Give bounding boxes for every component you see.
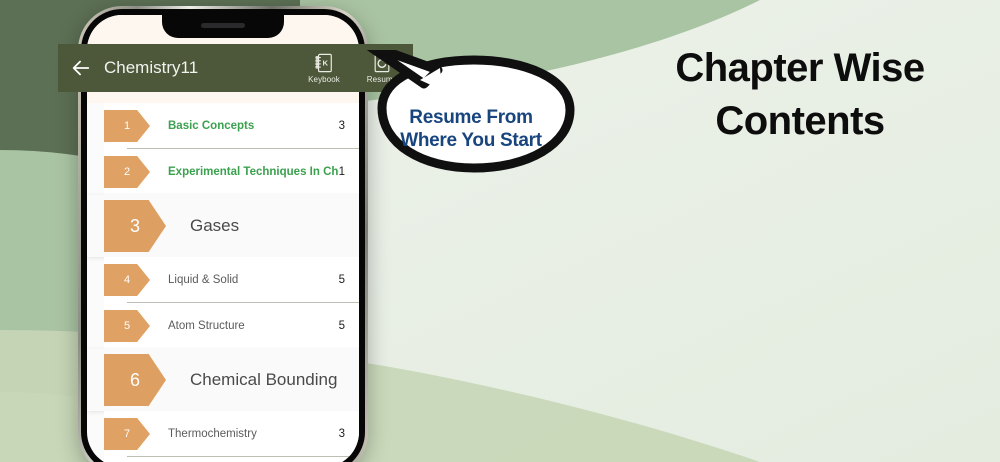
callout-line2: Where You Start bbox=[376, 129, 566, 152]
screenshot-canvas: Chapter Wise Contents 1Basic Concepts32E… bbox=[0, 0, 1000, 462]
chapter-number-badge: 3 bbox=[104, 200, 166, 252]
keybook-button[interactable]: K Keybook bbox=[303, 52, 345, 84]
chapter-row[interactable]: 5Atom Structure5 bbox=[87, 303, 359, 349]
chapter-number-badge: 4 bbox=[104, 264, 150, 296]
chapter-title: Experimental Techniques In Chemistry bbox=[150, 166, 339, 178]
chapter-row[interactable]: 4Liquid & Solid5 bbox=[87, 257, 359, 303]
chapter-row[interactable]: 8Chemical Equilibrium6 bbox=[87, 457, 359, 462]
callout-text: Resume From Where You Start bbox=[376, 106, 566, 152]
callout-line1: Resume From bbox=[409, 107, 532, 128]
chapter-row-inner: 7Thermochemistry3 bbox=[87, 411, 359, 457]
chapter-count: 5 bbox=[339, 274, 359, 286]
chapter-number-badge: 1 bbox=[104, 110, 150, 142]
page-title: Chapter Wise Contents bbox=[600, 42, 1000, 148]
chapter-row-inner: 1Basic Concepts3 bbox=[87, 103, 359, 149]
chapter-row-inner: 3Gases55 bbox=[87, 195, 359, 257]
chapter-title: Atom Structure bbox=[150, 320, 339, 332]
chapter-title: Thermochemistry bbox=[150, 428, 339, 440]
chapter-row[interactable]: 3Gases55 bbox=[87, 195, 359, 257]
chapter-number-badge: 5 bbox=[104, 310, 150, 342]
app-toolbar: Chemistry11 K Keybook bbox=[58, 44, 413, 92]
svg-text:K: K bbox=[322, 58, 328, 67]
chapter-row-inner: 6Chemical Bounding81 bbox=[87, 349, 359, 411]
chapter-list[interactable]: 1Basic Concepts32Experimental Techniques… bbox=[87, 103, 359, 462]
chapter-row-inner: 5Atom Structure5 bbox=[87, 303, 359, 349]
chapter-divider bbox=[127, 148, 359, 149]
page-title-line1: Chapter Wise bbox=[675, 46, 924, 90]
chapter-title: Gases bbox=[166, 216, 359, 236]
chapter-number-badge: 7 bbox=[104, 418, 150, 450]
resume-callout: Resume From Where You Start bbox=[362, 50, 594, 202]
chapter-row-inner: 2Experimental Techniques In Chemistry1 bbox=[87, 149, 359, 195]
chapter-title: Chemical Bounding bbox=[166, 370, 359, 390]
earpiece-speaker bbox=[201, 23, 245, 28]
chapter-row[interactable]: 2Experimental Techniques In Chemistry1 bbox=[87, 149, 359, 195]
chapter-row-inner: 4Liquid & Solid5 bbox=[87, 257, 359, 303]
arrow-left-icon bbox=[70, 57, 92, 79]
chapter-number-badge: 2 bbox=[104, 156, 150, 188]
chapter-divider bbox=[127, 302, 359, 303]
chapter-count: 5 bbox=[339, 320, 359, 332]
chapter-count: 1 bbox=[339, 166, 359, 178]
keybook-icon: K bbox=[314, 52, 334, 74]
keybook-label: Keybook bbox=[308, 75, 340, 84]
chapter-number-badge: 6 bbox=[104, 354, 166, 406]
chapter-row-inner: 8Chemical Equilibrium6 bbox=[87, 457, 359, 462]
chapter-row[interactable]: 7Thermochemistry3 bbox=[87, 411, 359, 457]
phone-notch bbox=[162, 15, 284, 38]
chapter-title: Liquid & Solid bbox=[150, 274, 339, 286]
chapter-row[interactable]: 6Chemical Bounding81 bbox=[87, 349, 359, 411]
chapter-row[interactable]: 1Basic Concepts3 bbox=[87, 103, 359, 149]
chapter-divider bbox=[127, 456, 359, 457]
app-title: Chemistry11 bbox=[104, 58, 303, 78]
chapter-count: 3 bbox=[339, 428, 359, 440]
back-button[interactable] bbox=[58, 44, 104, 92]
chapter-count: 3 bbox=[339, 120, 359, 132]
chapter-title: Basic Concepts bbox=[150, 120, 339, 132]
page-title-line2: Contents bbox=[600, 95, 1000, 148]
